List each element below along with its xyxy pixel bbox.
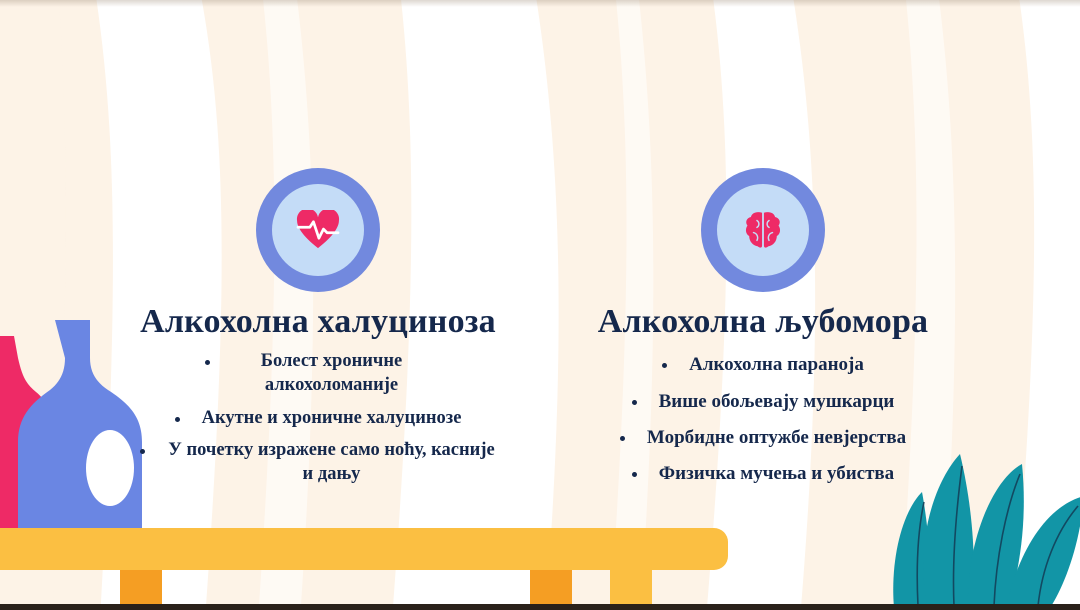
card-title: Алкохолна халуциноза bbox=[108, 302, 528, 341]
brain-icon bbox=[744, 210, 782, 250]
list-item-label: Морбидне оптужбе невјерства bbox=[647, 426, 906, 450]
bullet-dot-icon bbox=[662, 363, 667, 368]
list-item: Алкохолна параноја bbox=[548, 353, 978, 377]
list-item: Морбидне оптужбе невјерства bbox=[548, 426, 978, 450]
list-item: Више обољевају мушкарци bbox=[548, 390, 978, 414]
badge-inner-disc bbox=[717, 184, 809, 276]
bullet-dot-icon bbox=[175, 417, 180, 422]
list-item: Акутне и хроничне халуцинозе bbox=[108, 407, 528, 431]
bullet-dot-icon bbox=[632, 400, 637, 405]
bullet-dot-icon bbox=[140, 449, 145, 454]
list-item-label: У почетку изражене само ноћу, касније и … bbox=[167, 439, 497, 486]
bullet-dot-icon bbox=[620, 436, 625, 441]
list-item-label: Акутне и хроничне халуцинозе bbox=[202, 407, 462, 431]
list-item: Болест хроничне алкохоломаније bbox=[108, 350, 528, 397]
bullet-list: Алкохолна параноја Више обољевају мушкар… bbox=[548, 353, 978, 486]
badge-brain bbox=[701, 168, 825, 292]
list-item-label: Физичка мучења и убиства bbox=[659, 462, 894, 486]
slide: Алкохолна халуциноза Болест хроничне алк… bbox=[0, 0, 1080, 610]
bullet-dot-icon bbox=[205, 360, 210, 365]
card-alkoholna-halucinoza: Алкохолна халуциноза Болест хроничне алк… bbox=[108, 168, 528, 496]
bullet-dot-icon bbox=[632, 472, 637, 477]
top-edge-shadow bbox=[0, 0, 1080, 7]
list-item-label: Алкохолна параноја bbox=[689, 353, 864, 377]
cards-container: Алкохолна халуциноза Болест хроничне алк… bbox=[0, 0, 1080, 610]
badge-inner-disc bbox=[272, 184, 364, 276]
bullet-list: Болест хроничне алкохоломаније Акутне и … bbox=[108, 350, 528, 486]
list-item: У почетку изражене само ноћу, касније и … bbox=[108, 439, 528, 486]
list-item-label: Болест хроничне алкохоломаније bbox=[232, 350, 432, 397]
badge-heart-pulse bbox=[256, 168, 380, 292]
card-title: Алкохолна љубомора bbox=[548, 302, 978, 341]
bottom-edge-bar bbox=[0, 604, 1080, 610]
list-item-label: Више обољевају мушкарци bbox=[659, 390, 895, 414]
card-alkoholna-ljubomora: Алкохолна љубомора Алкохолна параноја Ви… bbox=[548, 168, 978, 499]
list-item: Физичка мучења и убиства bbox=[548, 462, 978, 486]
heart-pulse-icon bbox=[296, 210, 340, 250]
